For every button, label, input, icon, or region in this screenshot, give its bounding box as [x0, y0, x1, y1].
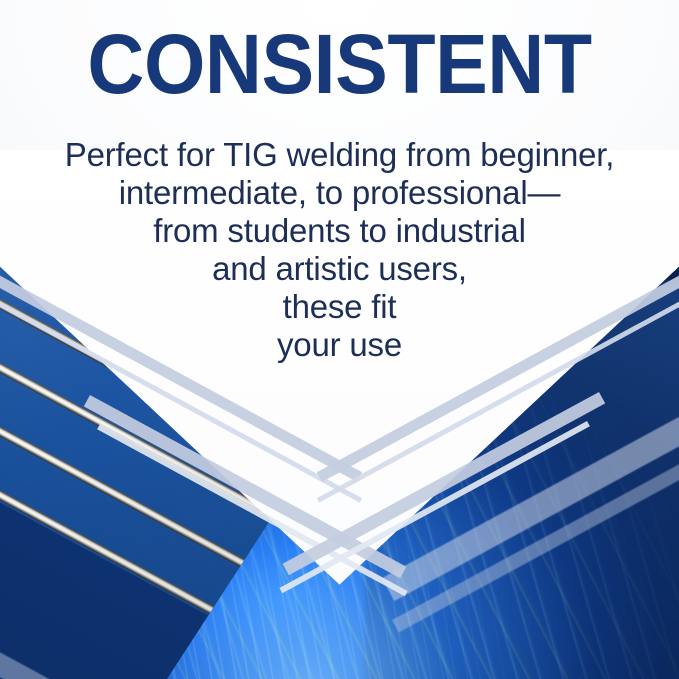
banner-artwork	[0, 0, 679, 679]
product-feature-banner: CONSISTENT Perfect for TIG welding from …	[0, 0, 679, 679]
